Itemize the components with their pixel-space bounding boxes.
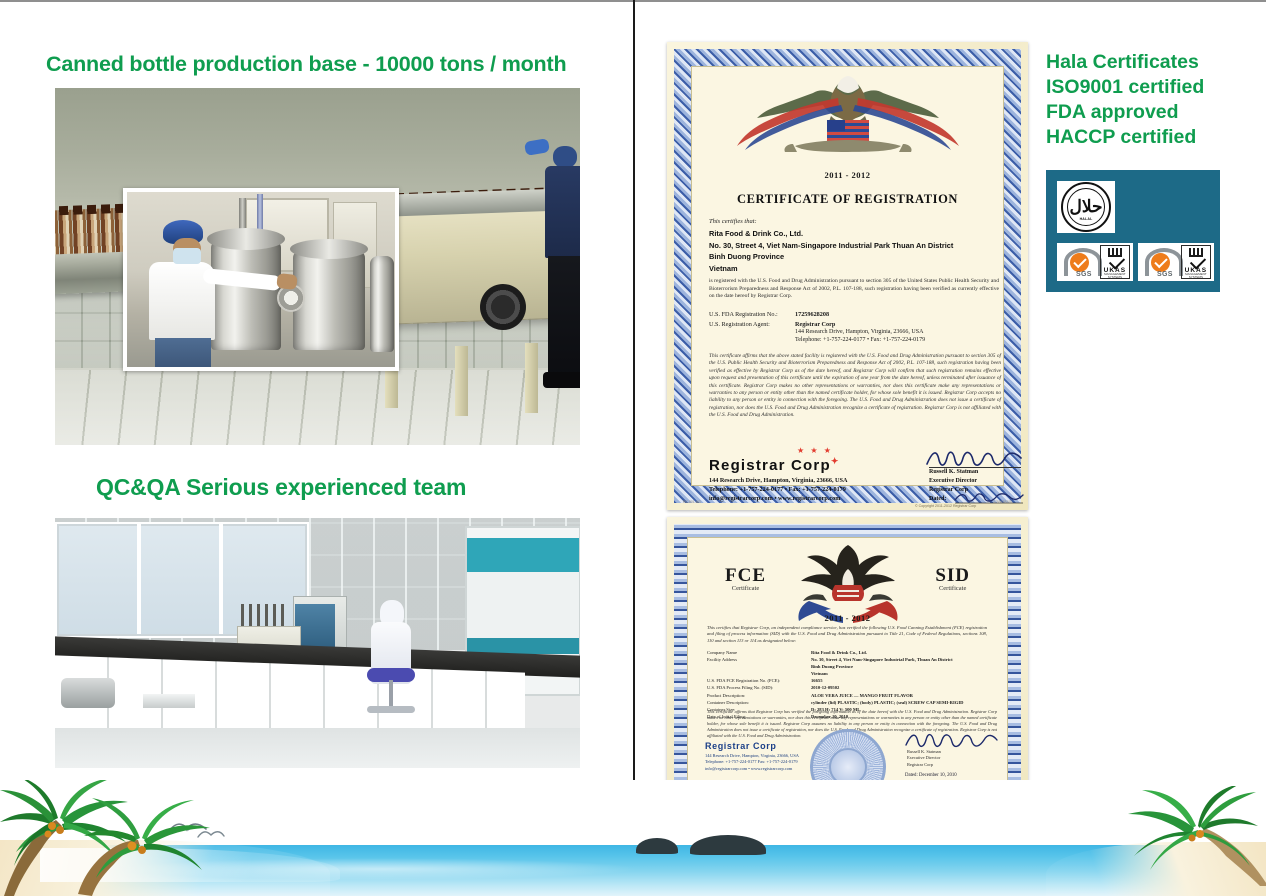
dated-value-2: December 10, 2010 bbox=[919, 773, 957, 778]
mixing-tank bbox=[370, 256, 394, 352]
table-row: Company Name Rita Food & Drink Co., Ltd. bbox=[707, 649, 997, 656]
sgs-logo-icon: SGS bbox=[1060, 245, 1098, 279]
table-row: Container Description: cylinder (lid) PL… bbox=[707, 699, 997, 706]
holder-line: Vietnam bbox=[709, 263, 989, 275]
lab-mixer bbox=[61, 678, 115, 708]
certifies-label: This certifies that: bbox=[709, 218, 757, 225]
factory-floor bbox=[55, 370, 580, 445]
line-worker bbox=[543, 146, 580, 396]
left-panel: Canned bottle production base - 10000 to… bbox=[0, 0, 633, 874]
field-value: 17259628208 bbox=[795, 310, 829, 320]
row-value: Binh Duong Province bbox=[811, 663, 853, 670]
row-value: 2010-12-09502 bbox=[811, 684, 839, 691]
sgs-label: SGS bbox=[1076, 271, 1092, 278]
field-label: U.S. Registration Agent: bbox=[709, 320, 795, 330]
certificate-code-left: RC-001-AG bbox=[683, 500, 701, 504]
dated-line-2: Dated: December 10, 2010 bbox=[905, 773, 957, 778]
certificate-year: 2011 - 2012 bbox=[667, 170, 1028, 180]
registrar-corp-logo-text-2: Registrar Corp bbox=[705, 741, 776, 751]
registrar-stars-icon: ★ ★ ★ bbox=[797, 446, 833, 455]
certificates-title-line: FDA approved bbox=[1046, 100, 1261, 125]
row-label: U.S. FDA FCE Registration No. (FCE): bbox=[707, 677, 811, 684]
production-line-photo bbox=[55, 88, 580, 445]
field-label: U.S. FDA Registration No.: bbox=[709, 310, 795, 320]
operator-trousers bbox=[155, 338, 211, 370]
copyright-note: © Copyright 2011-2012 Registrar Corp bbox=[915, 504, 976, 508]
certificates-title-line: Hala Certificates bbox=[1046, 50, 1261, 75]
row-value: 16655 bbox=[811, 677, 822, 684]
lab-balance bbox=[143, 694, 195, 708]
registrar-corp-logo: Registrar Corp✦ bbox=[709, 456, 840, 474]
fce-label: FCE bbox=[725, 565, 766, 587]
operator-face-mask bbox=[173, 248, 201, 264]
certificates-title-line: ISO9001 certified bbox=[1046, 75, 1261, 100]
issuer-address: 144 Research Drive, Hampton, Virginia, 2… bbox=[709, 476, 959, 485]
palm-tree-right-icon bbox=[1100, 786, 1266, 886]
tank-operator bbox=[147, 220, 219, 367]
table-row: Vietnam bbox=[707, 670, 997, 677]
island-icon bbox=[636, 838, 678, 854]
row-label: Container Description: bbox=[707, 699, 811, 706]
row-label: Facility Address bbox=[707, 656, 811, 663]
halal-logo: حلال HALAL bbox=[1057, 181, 1115, 233]
lab-stool-post bbox=[389, 680, 393, 708]
row-label: Product Description: bbox=[707, 692, 811, 699]
table-row: U.S. FDA FCE Registration No. (FCE): 166… bbox=[707, 677, 997, 684]
certificate-fields: U.S. FDA Registration No.: 17259628208 U… bbox=[709, 310, 1009, 329]
sgs-ukas-badge: SGS UKAS MANAGEMENT SYSTEMS bbox=[1138, 243, 1214, 281]
worker-head bbox=[553, 146, 577, 168]
machine-leg bbox=[455, 346, 468, 416]
registration-agent-block: 144 Research Drive, Hampton, Virginia, 2… bbox=[795, 328, 1005, 345]
sgs-emblem-icon bbox=[1151, 253, 1170, 272]
dated-label-2: Dated: bbox=[905, 773, 918, 778]
holder-line: Rita Food & Drink Co., Ltd. bbox=[709, 228, 989, 240]
palm-tree-left-icon bbox=[0, 780, 244, 896]
sid-sublabel: Certificate bbox=[935, 585, 970, 592]
ukas-logo-icon: UKAS MANAGEMENT SYSTEMS bbox=[1100, 245, 1130, 279]
brochure-page: Canned bottle production base - 10000 to… bbox=[0, 0, 1266, 896]
production-heading: Canned bottle production base - 10000 to… bbox=[46, 52, 566, 77]
issuer-phone: Telephone: +1-757-224-0177 • Fax: +1-757… bbox=[709, 485, 959, 494]
machine-leg bbox=[525, 343, 538, 413]
operator-hand bbox=[276, 273, 297, 290]
signature-block-2: Russell K. Statman Executive Director Re… bbox=[907, 749, 1007, 768]
row-value: No. 30, Street 4, Viet Nam-Singapore Ind… bbox=[811, 656, 953, 663]
sgs-emblem-icon bbox=[1070, 253, 1089, 272]
ukas-sublabel: MANAGEMENT SYSTEMS bbox=[1101, 273, 1129, 280]
lab-stool-base bbox=[367, 706, 415, 713]
issuer-contact-block: 144 Research Drive, Hampton, Virginia, 2… bbox=[709, 476, 959, 503]
row-label: U.S. FDA Process Filing No. (SID): bbox=[707, 684, 811, 691]
field-row: U.S. FDA Registration No.: 17259628208 bbox=[709, 310, 1009, 320]
certificate-title: CERTIFICATE OF REGISTRATION bbox=[667, 192, 1028, 207]
machine-wheel bbox=[480, 284, 526, 330]
qc-heading: QC&QA Serious experienced team bbox=[96, 474, 466, 501]
sid-mark: SID Certificate bbox=[935, 565, 970, 592]
fce-mark: FCE Certificate bbox=[725, 565, 766, 592]
beach-footer-illustration bbox=[0, 780, 1266, 896]
registrar-corp-logo-text: Registrar Corp bbox=[709, 457, 831, 474]
eagle-emblem-icon bbox=[723, 60, 973, 170]
row-value: Vietnam bbox=[811, 670, 828, 677]
qc-laboratory-photo bbox=[55, 518, 580, 768]
certification-logos-panel: حلال HALAL SGS UKAS MANAGEMENT SYSTEMS S… bbox=[1046, 170, 1220, 292]
halal-caption: HALAL bbox=[1063, 217, 1109, 221]
lab-oven-door bbox=[295, 604, 335, 650]
row-label bbox=[707, 663, 811, 670]
halal-ring-icon: حلال HALAL bbox=[1061, 182, 1111, 232]
window-mullion bbox=[137, 522, 141, 634]
row-value: ALOE VERA JUICE — MANGO FRUIT FLAVOR bbox=[811, 692, 913, 699]
row-value: cylinder (lid) PLASTIC; (body) PLASTIC; … bbox=[811, 699, 963, 706]
certificates-title-line: HACCP certified bbox=[1046, 125, 1261, 150]
issuer-contact-block-2: 144 Research Drive, Hampton, Virginia, 2… bbox=[705, 753, 895, 772]
signer-company-2: Registrar Corp bbox=[907, 762, 1007, 768]
signer-title: Executive Director bbox=[929, 477, 1021, 486]
tank-operator-inset-photo bbox=[123, 188, 399, 371]
table-row: Facility Address No. 30, Street 4, Viet … bbox=[707, 656, 997, 663]
worker-legs bbox=[548, 256, 580, 376]
holder-line: No. 30, Street 4, Viet Nam-Singapore Ind… bbox=[709, 240, 989, 252]
signer-name: Russell K. Statman bbox=[929, 468, 1021, 477]
sid-label: SID bbox=[935, 565, 970, 587]
window-mullion bbox=[219, 522, 223, 634]
sgs-ukas-badge: SGS UKAS MANAGEMENT SYSTEMS bbox=[1057, 243, 1133, 281]
ukas-logo-icon: UKAS MANAGEMENT SYSTEMS bbox=[1181, 245, 1211, 279]
issuer-web: info@registrarcorp.com • www.registrarco… bbox=[709, 494, 959, 503]
island-icon bbox=[690, 835, 766, 855]
certificate-code-right: 1759628208 bbox=[993, 500, 1012, 504]
ukas-sublabel: MANAGEMENT SYSTEMS bbox=[1182, 273, 1210, 280]
table-row: Binh Duong Province bbox=[707, 663, 997, 670]
halal-arabic-text: حلال bbox=[1069, 197, 1102, 217]
agent-phone: Telephone: +1-757-224-0177 • Fax: +1-757… bbox=[795, 336, 1005, 344]
certificate-holder-block: Rita Food & Drink Co., Ltd. No. 30, Stre… bbox=[709, 228, 989, 274]
signature-handwriting-2 bbox=[903, 729, 999, 751]
lab-floor bbox=[55, 728, 580, 768]
certificate-year: 2011 - 2012 bbox=[667, 613, 1028, 623]
row-label bbox=[707, 670, 811, 677]
holder-line: Binh Duong Province bbox=[709, 251, 989, 263]
fda-registration-certificate: 2011 - 2012 CERTIFICATE OF REGISTRATION … bbox=[667, 42, 1028, 510]
logo-star-icon: ✦ bbox=[831, 456, 840, 466]
registration-statement: is registered with the U.S. Food and Dru… bbox=[709, 278, 999, 301]
certificates-title: Hala Certificates ISO9001 certified FDA … bbox=[1046, 50, 1261, 150]
sgs-label: SGS bbox=[1157, 271, 1173, 278]
row-label: Company Name bbox=[707, 649, 811, 656]
worker-torso bbox=[545, 166, 580, 258]
worker-boots bbox=[543, 372, 580, 388]
registrar-corp-logo-2: Registrar Corp bbox=[705, 741, 776, 751]
sgs-logo-icon: SGS bbox=[1141, 245, 1179, 279]
table-row: U.S. FDA Process Filing No. (SID): 2010-… bbox=[707, 684, 997, 691]
issuer-web-2: info@registrarcorp.com • www.registrarco… bbox=[705, 766, 895, 772]
certificate-legal-text: This certificate affirms that the above … bbox=[709, 353, 1001, 420]
fce-sid-certificate: FCE Certificate SID Certificate 2011 - 2… bbox=[667, 517, 1028, 807]
row-value: Rita Food & Drink Co., Ltd. bbox=[811, 649, 867, 656]
agent-address: 144 Research Drive, Hampton, Virginia, 2… bbox=[795, 328, 1005, 336]
table-row: Product Description: ALOE VERA JUICE — M… bbox=[707, 692, 997, 699]
mixing-tank bbox=[211, 240, 281, 350]
dated-handwriting bbox=[953, 490, 1025, 504]
fce-intro-text: This certifies that Registrar Corp, an i… bbox=[707, 625, 987, 644]
